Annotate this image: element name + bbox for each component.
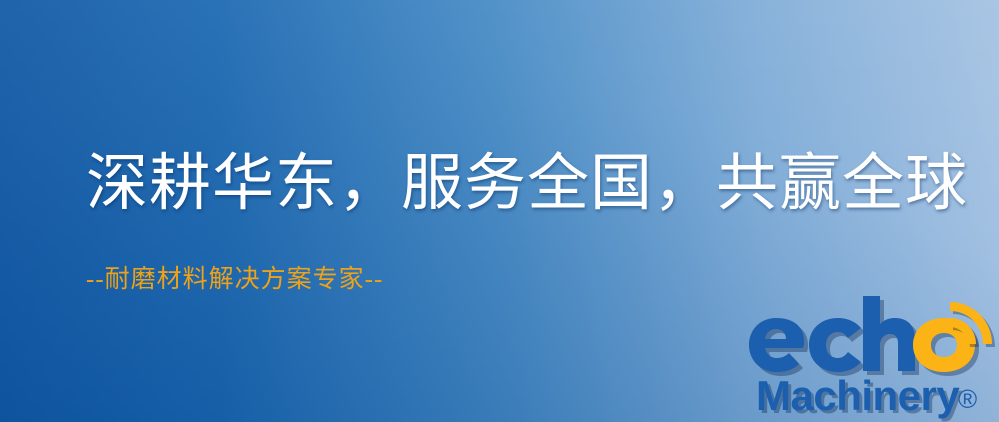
banner-subheadline: --耐磨材料解决方案专家--: [86, 266, 383, 294]
registered-trademark-icon: ®: [958, 384, 977, 414]
banner-headline: 深耕华东，服务全国，共赢全球: [86, 152, 968, 217]
logo-tagline: Machinery: [756, 372, 960, 419]
echo-machinery-logo: Machinery Machinery ®: [745, 296, 999, 422]
promo-banner: 深耕华东，服务全国，共赢全球 --耐磨材料解决方案专家--: [0, 0, 999, 422]
